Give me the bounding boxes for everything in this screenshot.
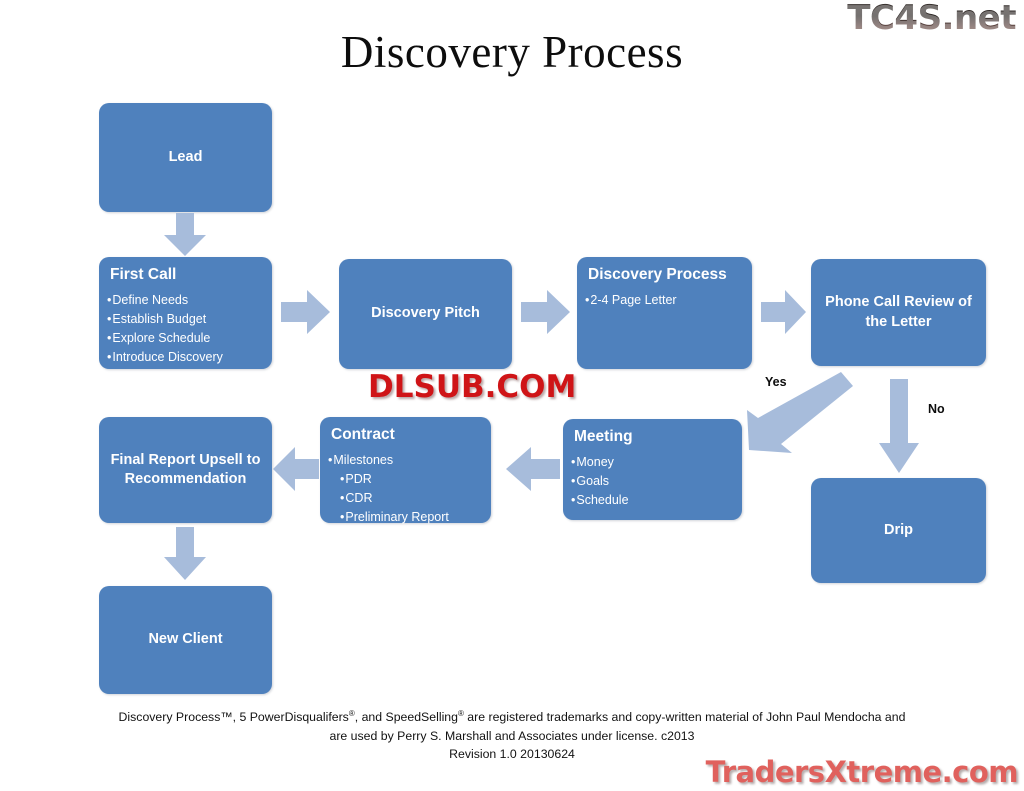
node-contract-bullets: Milestones PDR CDR Preliminary Report Re… (328, 451, 485, 546)
node-lead-label: Lead (159, 148, 213, 167)
list-item: CDR (328, 489, 485, 508)
node-final-report[interactable]: Final Report Upsell to Recommendation (99, 417, 272, 523)
node-discovery-process-title: Discovery Process (588, 266, 744, 283)
list-item: Goals (571, 472, 736, 491)
footer-line-1-a: Discovery Process™, 5 PowerDisqualifers (119, 710, 349, 724)
node-discovery-process-bullets: 2-4 Page Letter (585, 291, 746, 310)
node-lead[interactable]: Lead (99, 103, 272, 212)
node-discovery-pitch-label: Discovery Pitch (361, 304, 490, 323)
node-meeting[interactable]: Meeting Money Goals Schedule (563, 419, 742, 520)
node-first-call[interactable]: First Call Define Needs Establish Budget… (99, 257, 272, 369)
arrow-discovery-pitch-to-discovery-process (521, 288, 571, 336)
node-contract[interactable]: Contract Milestones PDR CDR Preliminary … (320, 417, 491, 523)
arrow-final-report-to-new-client (163, 527, 207, 581)
node-meeting-bullets: Money Goals Schedule (571, 453, 736, 510)
footer-line-1-c: are registered trademarks and copy-writt… (464, 710, 906, 724)
node-phone-call-review-label: Phone Call Review of the Letter (811, 293, 986, 331)
edge-label-no: No (928, 402, 945, 416)
list-item: 2-4 Page Letter (585, 291, 746, 310)
list-item: PDR (328, 470, 485, 489)
list-item: Define Needs (107, 291, 266, 310)
footer-line-1-b: , and SpeedSelling (355, 710, 458, 724)
page-title: Discovery Process (0, 26, 1024, 78)
node-drip[interactable]: Drip (811, 478, 986, 583)
node-first-call-bullets: Define Needs Establish Budget Explore Sc… (107, 291, 266, 367)
arrow-discovery-process-to-phone-call-review (761, 288, 807, 336)
edge-label-yes: Yes (765, 375, 787, 389)
node-meeting-title: Meeting (574, 428, 734, 445)
node-drip-label: Drip (874, 521, 923, 540)
list-item: Money (571, 453, 736, 472)
list-item: Explore Schedule (107, 329, 266, 348)
node-final-report-label: Final Report Upsell to Recommendation (99, 451, 272, 489)
list-item: Milestones (328, 451, 485, 470)
tradersxtreme-logo: TradersXtreme.com (706, 755, 1018, 789)
list-item: Preliminary Report Review (328, 508, 485, 546)
arrow-contract-to-final-report (272, 445, 320, 493)
arrow-meeting-to-contract (505, 445, 561, 493)
dlsub-watermark: DLSUB.COM (368, 369, 576, 405)
list-item: Introduce Discovery (107, 348, 266, 367)
node-phone-call-review[interactable]: Phone Call Review of the Letter (811, 259, 986, 366)
footer-line-1: Discovery Process™, 5 PowerDisqualifers®… (58, 708, 966, 727)
list-item: Schedule (571, 491, 736, 510)
node-first-call-title: First Call (110, 266, 264, 283)
node-discovery-pitch[interactable]: Discovery Pitch (339, 259, 512, 369)
node-new-client[interactable]: New Client (99, 586, 272, 694)
arrow-lead-to-first-call (163, 213, 207, 257)
node-contract-title: Contract (331, 426, 483, 443)
node-discovery-process[interactable]: Discovery Process 2-4 Page Letter (577, 257, 752, 369)
diagram-canvas: TC4S.net Discovery Process Lead First Ca… (0, 0, 1024, 791)
node-new-client-label: New Client (138, 630, 232, 649)
arrow-first-call-to-discovery-pitch (281, 288, 331, 336)
arrow-phone-call-review-to-drip (878, 379, 920, 474)
arrow-phone-call-review-to-meeting (745, 372, 855, 454)
list-item: Establish Budget (107, 310, 266, 329)
footer-line-2: are used by Perry S. Marshall and Associ… (58, 727, 966, 746)
